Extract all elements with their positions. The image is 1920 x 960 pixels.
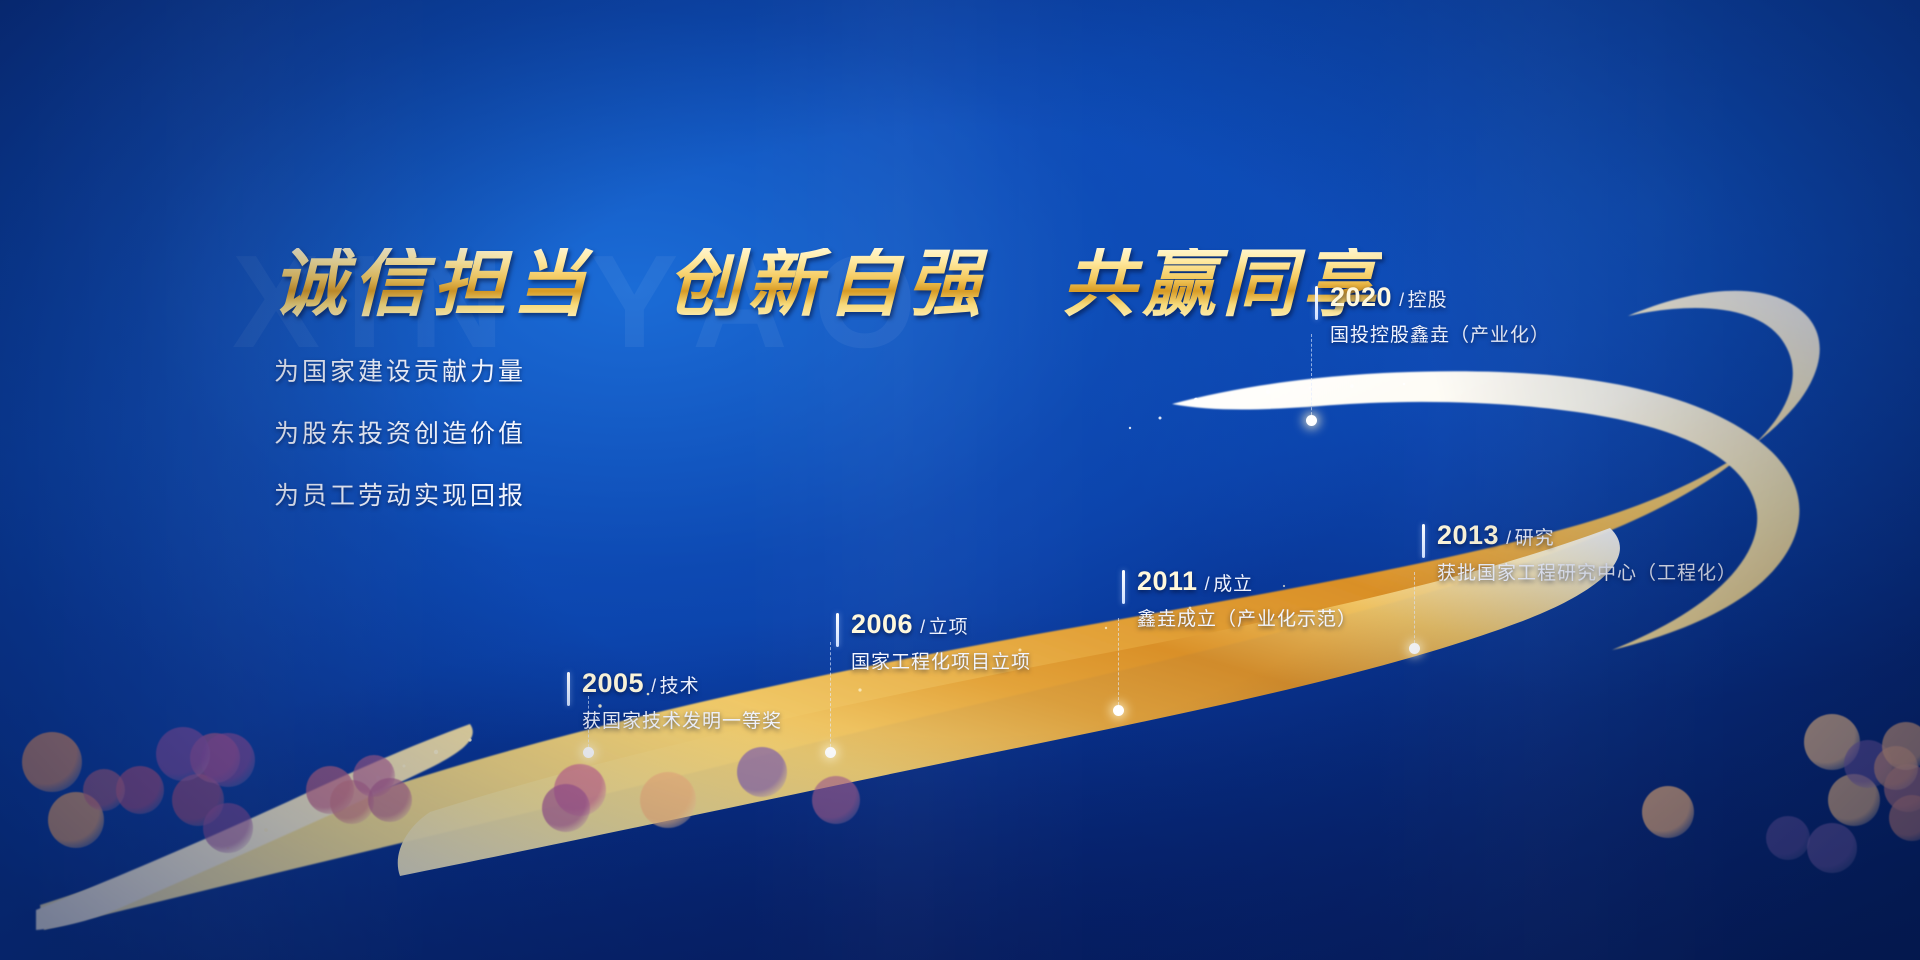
subtitle-line-1: 为国家建设贡献力量: [274, 352, 526, 388]
milestone-year: 2011/成立: [1137, 566, 1253, 597]
milestone-accent-bar: [1422, 524, 1425, 558]
milestone-tag: 成立: [1213, 574, 1253, 595]
bokeh-dot-left-0: [22, 732, 82, 792]
milestone-leader-line-2013: [1414, 572, 1415, 648]
milestone-accent-bar: [567, 672, 570, 706]
milestone-description: 获国家技术发明一等奖: [582, 706, 782, 733]
milestone-dot-2020[interactable]: [1306, 415, 1317, 426]
milestone-separator: /: [1205, 574, 1211, 594]
bokeh-dot-left-16: [737, 747, 787, 797]
milestone-leader-line-2011: [1118, 618, 1119, 710]
milestone-leader-line-2006: [830, 642, 831, 752]
subtitle-line-3: 为员工劳动实现回报: [274, 476, 526, 512]
milestone-tag: 技术: [660, 676, 700, 697]
milestone-year: 2020/控股: [1330, 282, 1448, 313]
bokeh-dot-left-6: [83, 769, 125, 811]
milestone-tag: 研究: [1515, 528, 1555, 549]
milestone-separator: /: [920, 617, 926, 637]
bokeh-dot-right-1: [1766, 816, 1810, 860]
milestone-separator: /: [1506, 528, 1512, 548]
subtitle-list: 为国家建设贡献力量 为股东投资创造价值 为员工劳动实现回报: [274, 352, 526, 538]
subtitle-line-2: 为股东投资创造价值: [274, 414, 526, 450]
milestone-dot-2011[interactable]: [1113, 705, 1124, 716]
milestone-leader-line-2020: [1311, 334, 1312, 420]
milestone-tag: 控股: [1408, 290, 1448, 311]
milestone-year: 2005/技术: [582, 668, 700, 699]
bokeh-dot-left-11: [368, 778, 412, 822]
milestone-description: 国家工程化项目立项: [851, 647, 1031, 674]
milestone-accent-bar: [836, 613, 839, 647]
milestone-leader-line-2005: [588, 696, 589, 752]
bokeh-dot-left-17: [812, 776, 860, 824]
headline-part-1: 诚信担当: [272, 244, 592, 326]
milestone-tag: 立项: [929, 617, 969, 638]
page-title: 诚信担当 创新自强 共赢同享: [272, 248, 1382, 322]
milestone-description: 国投控股鑫垚（产业化）: [1330, 320, 1550, 347]
milestone-description: 获批国家工程研究中心（工程化）: [1437, 558, 1737, 585]
milestone-dot-2006[interactable]: [825, 747, 836, 758]
milestone-separator: /: [651, 676, 657, 696]
milestone-separator: /: [1399, 290, 1405, 310]
milestone-dot-2005[interactable]: [583, 747, 594, 758]
banner-canvas: XIN YAO 诚信担当 创新自强 共赢同享 为国家建设贡献力量 为股东投资创造…: [0, 0, 1920, 960]
milestone-dot-2013[interactable]: [1409, 643, 1420, 654]
milestone-accent-bar: [1122, 570, 1125, 604]
milestone-accent-bar: [1315, 286, 1318, 320]
bokeh-dot-right-2: [1807, 823, 1857, 873]
bokeh-dot-right-0: [1642, 786, 1694, 838]
milestone-year: 2013/研究: [1437, 520, 1555, 551]
milestone-description: 鑫垚成立（产业化示范）: [1137, 604, 1357, 631]
headline-part-2: 创新自强: [667, 244, 987, 326]
milestone-year: 2006/立项: [851, 609, 969, 640]
bokeh-dot-left-14: [542, 784, 590, 832]
bokeh-dot-left-15: [640, 772, 696, 828]
bokeh-dot-left-7: [156, 727, 210, 781]
bokeh-dot-left-12: [203, 803, 253, 853]
